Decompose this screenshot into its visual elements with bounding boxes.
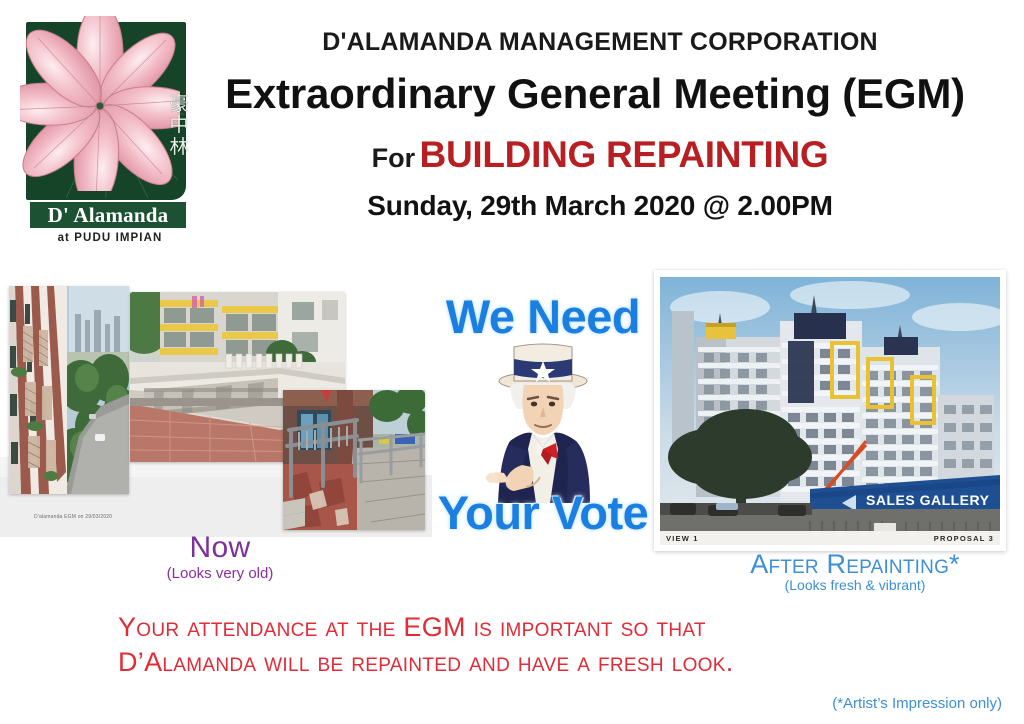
corporation-name: D'ALAMANDA MANAGEMENT CORPORATION	[200, 28, 1000, 57]
meeting-subject-line: For BUILDING REPAINTING	[200, 136, 1000, 173]
attendance-message-line-2: D’Alamanda will be repainted and have a …	[118, 645, 918, 680]
after-photo-image: SALES GALLERY OPEN DAILY 10AM-6PM	[660, 277, 1000, 539]
after-label: After Repainting*	[690, 549, 1020, 580]
after-photo-view-label: VIEW 1	[666, 534, 699, 543]
after-photo-labels: VIEW 1 PROPOSAL 3	[660, 531, 1000, 545]
we-need-your-vote-graphic: We Need	[432, 285, 654, 547]
uncle-sam-icon	[480, 337, 606, 503]
before-label: Now	[110, 531, 330, 565]
logo-location-text: at PUDU IMPIAN	[28, 232, 192, 244]
after-sub-label: (Looks fresh & vibrant)	[690, 577, 1020, 593]
attendance-message: Your attendance at the EGM is important …	[118, 610, 918, 680]
logo-name-text: D' Alamanda	[48, 203, 169, 228]
logo-chinese-characters: 豪中林	[166, 94, 192, 158]
after-repainting-photo: SALES GALLERY OPEN DAILY 10AM-6PM	[654, 270, 1006, 551]
vote-line-1: We Need	[432, 289, 654, 344]
before-photo-peeling-handrail	[283, 390, 425, 530]
subject-topic: BUILDING REPAINTING	[420, 134, 829, 175]
egm-poster: 豪中林 D' Alamanda at PUDU IMPIAN D'ALAMAND…	[0, 0, 1024, 724]
page-title: Extraordinary General Meeting (EGM)	[190, 70, 1000, 118]
subject-prefix: For	[372, 143, 416, 173]
artist-impression-footnote: (*Artist’s Impression only)	[832, 695, 1002, 712]
alamanda-flower-icon	[20, 16, 180, 191]
before-sub-label: (Looks very old)	[110, 565, 330, 582]
svg-text:SALES GALLERY: SALES GALLERY	[866, 492, 990, 508]
meeting-datetime: Sunday, 29th March 2020 @ 2.00PM	[200, 190, 1000, 222]
after-photo-proposal-label: PROPOSAL 3	[934, 534, 994, 543]
dalamanda-logo: 豪中林 D' Alamanda at PUDU IMPIAN	[14, 10, 200, 245]
collage-photo-caption: D'alamanda EGM on 29/03/2020	[34, 514, 112, 520]
before-photo-collage: D'alamanda EGM on 29/03/2020	[0, 277, 432, 537]
before-photo-building-facade	[9, 286, 129, 494]
attendance-message-line-1: Your attendance at the EGM is important …	[118, 610, 918, 645]
vote-line-2: Your Vote	[432, 485, 654, 540]
logo-name-banner: D' Alamanda	[28, 200, 188, 230]
